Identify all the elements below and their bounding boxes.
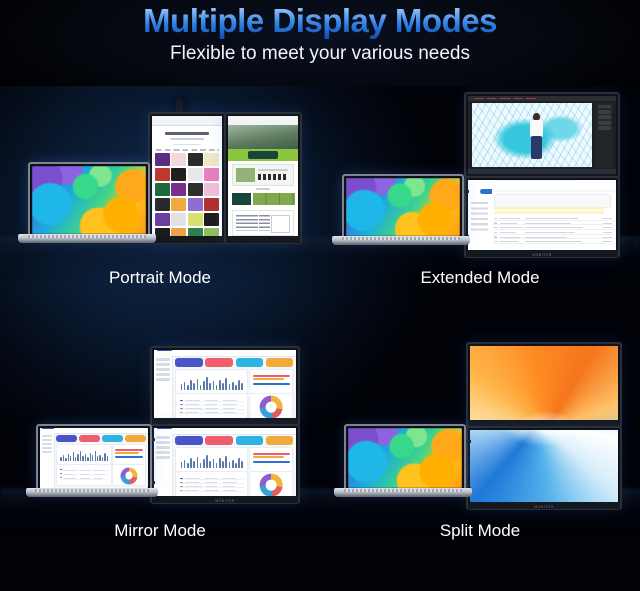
gallery-thumbnail[interactable] <box>155 168 170 181</box>
bar-chart <box>60 451 108 461</box>
gallery-thumbnail[interactable] <box>155 198 170 211</box>
stat-card[interactable] <box>56 435 77 442</box>
sender-line <box>500 227 522 228</box>
analytics-dashboard <box>154 428 296 500</box>
bar <box>229 384 231 390</box>
green-band <box>228 149 298 160</box>
sidebar-item[interactable] <box>156 446 170 449</box>
bar <box>232 382 234 390</box>
highlighted-row[interactable] <box>494 207 603 210</box>
gallery-thumbnail[interactable] <box>204 168 219 181</box>
stat-card-row <box>175 436 293 445</box>
bar <box>190 380 192 389</box>
page-subheading-line <box>170 138 204 140</box>
page-title: Multiple Display Modes <box>0 0 640 39</box>
sidebar-item[interactable] <box>42 439 53 442</box>
promo-card[interactable] <box>494 194 611 208</box>
bar <box>235 463 237 468</box>
panel-title-line <box>181 450 201 451</box>
cell-line <box>223 482 237 483</box>
tool-button[interactable] <box>598 105 611 109</box>
row-marker <box>180 478 183 479</box>
progress-panel <box>249 447 293 472</box>
cell-line <box>223 478 236 479</box>
bar <box>238 380 240 389</box>
stat-card[interactable] <box>79 435 100 442</box>
sidebar-item[interactable] <box>42 451 53 454</box>
stat-card[interactable] <box>175 436 202 445</box>
sidebar-item[interactable] <box>156 378 170 381</box>
table-row[interactable] <box>60 473 109 475</box>
panel-title-line <box>253 372 267 374</box>
stat-card[interactable] <box>205 358 232 367</box>
tool-button[interactable] <box>598 110 611 114</box>
table-row[interactable] <box>180 400 244 403</box>
gallery-thumbnail[interactable] <box>188 153 203 166</box>
metric-bar-orange <box>115 452 138 454</box>
monitor-screen <box>154 428 296 500</box>
monitor-mirror-top <box>150 346 300 426</box>
row-marker <box>180 408 183 409</box>
bar <box>209 461 211 468</box>
bar <box>203 459 205 467</box>
cell-line <box>185 490 198 491</box>
header: Multiple Display Modes Flexible to meet … <box>0 0 640 86</box>
sender-line <box>500 237 519 238</box>
panel-title-line <box>253 450 267 452</box>
sidebar-item[interactable] <box>42 443 53 446</box>
sender-line <box>500 218 519 219</box>
sidebar-item[interactable] <box>156 363 170 366</box>
cell-line <box>205 412 219 413</box>
bar <box>190 458 192 467</box>
mail-row[interactable] <box>493 231 615 235</box>
highlighted-row[interactable] <box>494 211 603 214</box>
mail-toolbar[interactable] <box>493 189 615 192</box>
bar <box>95 451 96 461</box>
gallery-filter-row <box>156 149 219 151</box>
section-divider-line <box>256 188 270 190</box>
bar-chart <box>181 455 244 467</box>
bar <box>102 457 103 461</box>
mail-row[interactable] <box>493 240 615 244</box>
bar <box>87 457 88 461</box>
monitor-screen <box>152 116 222 240</box>
row-checkbox[interactable] <box>494 236 497 237</box>
table-row[interactable] <box>180 404 244 407</box>
mail-sidebar[interactable] <box>468 187 492 254</box>
monitor-screen <box>468 180 616 254</box>
subject-line <box>525 241 581 242</box>
gallery-thumbnail[interactable] <box>204 183 219 196</box>
monitor-screen <box>470 430 618 506</box>
sidebar-item[interactable] <box>156 373 170 376</box>
bar <box>222 383 224 390</box>
date-line <box>603 223 613 224</box>
cell-line <box>185 408 202 409</box>
stat-card[interactable] <box>236 436 263 445</box>
mail-row[interactable] <box>493 217 615 221</box>
laptop-keyboard-deck <box>26 488 158 497</box>
bar <box>65 458 66 461</box>
bar <box>193 383 195 389</box>
gallery-grid <box>155 153 219 232</box>
sidebar-item[interactable] <box>156 436 170 439</box>
label-extended-mode: Extended Mode <box>320 268 640 288</box>
monitor-chin: MONITOR <box>152 496 298 503</box>
monitor-logo: MONITOR <box>532 253 551 257</box>
menu-item[interactable] <box>474 98 484 99</box>
cell-line <box>223 400 236 401</box>
date-line <box>603 232 613 233</box>
sidebar-item[interactable] <box>156 441 170 444</box>
bar <box>229 462 231 468</box>
row-marker <box>60 469 62 470</box>
person-legs <box>531 136 542 159</box>
green-themed-webpage <box>228 116 298 240</box>
metric-bar-red <box>253 453 290 455</box>
bar <box>80 451 81 461</box>
cell-line <box>205 482 217 483</box>
gallery-thumbnail[interactable] <box>171 168 186 181</box>
bar <box>241 461 243 467</box>
tool-button[interactable] <box>598 121 611 125</box>
sender-line <box>500 232 516 233</box>
table-row[interactable] <box>180 486 244 489</box>
gallery-thumbnail[interactable] <box>155 153 170 166</box>
cell-line <box>223 408 235 409</box>
tool-button[interactable] <box>598 126 611 130</box>
bar <box>206 455 208 467</box>
stat-card-row <box>56 435 146 442</box>
analytics-dashboard <box>40 428 148 488</box>
cell-line <box>185 404 199 405</box>
row-marker <box>180 404 183 405</box>
bar <box>206 377 208 389</box>
cell-line <box>185 486 202 487</box>
row-checkbox[interactable] <box>494 241 497 242</box>
person-figure <box>529 113 545 159</box>
gallery-thumbnail[interactable] <box>188 198 203 211</box>
dashboard-header <box>40 428 148 434</box>
progress-bar <box>253 383 290 385</box>
cell-line <box>223 486 235 487</box>
bar <box>184 382 186 389</box>
stat-card-row <box>175 358 293 367</box>
subject-line <box>525 227 583 228</box>
monitor-split-top <box>466 342 622 428</box>
stat-card[interactable] <box>125 435 146 442</box>
cell-line <box>185 478 200 479</box>
row-marker <box>180 412 183 413</box>
bar <box>225 456 227 468</box>
cell-line <box>185 400 200 401</box>
progress-panel <box>112 444 145 465</box>
card-thumbnail <box>236 168 255 182</box>
monitor-mirror-bottom: MONITOR <box>150 424 300 504</box>
menu-item[interactable] <box>487 98 496 99</box>
bar <box>97 456 98 461</box>
table-row[interactable] <box>60 469 109 471</box>
scene: Portrait Mode <box>0 86 640 591</box>
row-checkbox[interactable] <box>494 218 497 219</box>
bar <box>197 457 199 468</box>
bar <box>200 463 202 468</box>
menu-item[interactable] <box>499 98 511 99</box>
sender-line <box>500 223 517 224</box>
bar <box>85 454 86 461</box>
cell-line <box>185 482 199 483</box>
donut-chart-panel <box>112 464 145 486</box>
mail-row[interactable] <box>493 221 615 225</box>
table-panel <box>56 464 112 486</box>
row-checkbox[interactable] <box>494 222 497 223</box>
sidebar-item[interactable] <box>42 447 53 450</box>
bar-chart <box>181 377 244 389</box>
subject-line <box>525 223 571 224</box>
row-marker <box>180 490 183 491</box>
laptop-wallpaper <box>348 428 462 488</box>
stat-card[interactable] <box>266 358 293 367</box>
monitor-logo: MONITOR <box>215 499 234 503</box>
bar <box>216 385 218 390</box>
monitor-portrait-left <box>148 112 226 244</box>
editor-tool-rail[interactable] <box>595 103 613 167</box>
sidebar-item[interactable] <box>156 456 170 459</box>
subject-line <box>525 218 579 219</box>
gallery-thumbnail[interactable] <box>171 153 186 166</box>
page-subtitle: Flexible to meet your various needs <box>0 43 640 65</box>
band-card <box>248 151 279 158</box>
stat-card[interactable] <box>266 436 293 445</box>
editor-canvas[interactable] <box>472 103 592 167</box>
cell-line <box>205 400 218 401</box>
warm-orange-wallpaper <box>470 346 618 424</box>
row-marker <box>60 477 62 478</box>
panel-title-line <box>181 396 199 398</box>
monitor-portrait-right <box>224 112 302 244</box>
cell-line <box>223 404 237 405</box>
table-row[interactable] <box>180 411 244 414</box>
gallery-thumbnail[interactable] <box>204 153 219 166</box>
bar <box>60 457 61 461</box>
content-card <box>232 164 294 186</box>
monitor-extended-bottom: MONITOR <box>464 176 620 258</box>
mail-row[interactable] <box>493 235 615 239</box>
gallery-thumbnail[interactable] <box>204 198 219 211</box>
laptop-keyboard-deck <box>18 234 156 243</box>
monitor-screen <box>468 96 616 174</box>
sidebar-item[interactable] <box>156 368 170 371</box>
label-mirror-mode: Mirror Mode <box>0 521 320 541</box>
card-barcode <box>258 174 285 180</box>
hero-image <box>228 125 298 150</box>
cell-line <box>205 486 218 487</box>
stat-card[interactable] <box>236 358 263 367</box>
keyboard-keys <box>35 489 149 492</box>
laptop-lid <box>342 174 464 240</box>
bar <box>90 453 91 461</box>
table-panel <box>175 471 248 498</box>
panel-split-mode: MONITOR Split Mode <box>320 338 640 591</box>
subject-line <box>525 237 568 238</box>
date-line <box>603 237 613 238</box>
laptop-base-portrait <box>18 234 156 243</box>
row-checkbox[interactable] <box>494 232 497 233</box>
gallery-thumbnail[interactable] <box>204 213 219 226</box>
gallery-thumbnail[interactable] <box>171 198 186 211</box>
cell-line <box>223 412 236 413</box>
bar <box>181 384 183 389</box>
bar <box>225 378 227 390</box>
bar <box>82 456 83 461</box>
monitor-chin <box>226 236 300 243</box>
bar <box>197 379 199 390</box>
page-text-line <box>173 144 201 145</box>
laptop-screen <box>346 178 460 236</box>
monitor-logo: MONITOR <box>534 505 553 509</box>
laptop-keyboard-deck <box>332 236 470 245</box>
donut-chart-panel <box>249 393 293 420</box>
bar <box>73 452 74 461</box>
row-checkbox[interactable] <box>494 227 497 228</box>
keyboard-keys <box>28 235 147 238</box>
list-column-right <box>259 215 270 231</box>
bar <box>181 462 183 467</box>
bar <box>70 456 71 461</box>
keyboard-keys <box>344 489 463 492</box>
laptop-base-extended <box>332 236 470 245</box>
monitor-chin <box>150 236 224 243</box>
bar <box>200 385 202 390</box>
laptop-base-split <box>334 488 472 497</box>
stat-card[interactable] <box>102 435 123 442</box>
bar <box>68 454 69 462</box>
panel-title-line <box>181 474 199 476</box>
laptop-keyboard-deck <box>334 488 472 497</box>
laptop-base-mirror <box>26 488 158 497</box>
dashboard-header <box>154 428 296 435</box>
panel-mirror-mode: MONITOR <box>0 338 320 591</box>
bar <box>238 458 240 467</box>
donut-chart <box>260 474 283 497</box>
row-marker <box>180 482 183 483</box>
bar <box>77 454 78 461</box>
gallery-thumbnail[interactable] <box>171 213 186 226</box>
cool-blue-wallpaper <box>470 430 618 506</box>
menu-item[interactable] <box>514 98 523 99</box>
gallery-thumbnail[interactable] <box>188 168 203 181</box>
bar-chart-panel <box>175 369 248 394</box>
mail-body <box>492 187 616 254</box>
product-feature-image: Multiple Display Modes Flexible to meet … <box>0 0 640 591</box>
row-marker <box>180 486 183 487</box>
sidebar-item[interactable] <box>156 451 170 454</box>
gallery-thumbnail[interactable] <box>171 183 186 196</box>
stat-card[interactable] <box>205 436 232 445</box>
dashboard-sidebar[interactable] <box>154 356 173 422</box>
menu-item[interactable] <box>526 98 536 99</box>
table-row[interactable] <box>180 489 244 492</box>
page-heading-line <box>165 132 210 135</box>
table-row[interactable] <box>180 478 244 481</box>
gallery-thumbnail[interactable] <box>155 213 170 226</box>
bar <box>63 455 64 461</box>
metric-bar-red <box>253 375 290 377</box>
laptop-extended-mode <box>342 174 460 236</box>
bar <box>219 380 221 390</box>
date-line <box>603 218 613 219</box>
cell-line <box>205 478 218 479</box>
bar <box>241 383 243 389</box>
laptop-mirror-mode <box>36 424 148 488</box>
date-line <box>603 227 613 228</box>
bar <box>209 383 211 390</box>
gallery-thumbnail[interactable] <box>188 213 203 226</box>
keyboard-keys <box>342 237 461 240</box>
row-marker <box>180 400 183 401</box>
table-row[interactable] <box>60 477 109 479</box>
sidebar-item[interactable] <box>156 358 170 361</box>
panel-portrait-mode: Portrait Mode <box>0 86 320 338</box>
donut-chart <box>260 396 283 419</box>
monitor-chin: MONITOR <box>466 250 618 257</box>
bar <box>107 456 108 461</box>
bar <box>187 463 189 467</box>
progress-panel <box>249 369 293 394</box>
dark-panel <box>232 193 252 205</box>
dashboard-sidebar[interactable] <box>40 433 55 488</box>
monitor-extended-top <box>464 92 620 178</box>
progress-bar <box>115 456 143 458</box>
person-torso <box>530 120 543 137</box>
metric-bar-orange <box>253 456 284 458</box>
laptop-wallpaper <box>32 166 146 234</box>
folder-list[interactable] <box>471 202 488 233</box>
list-column-left <box>236 215 257 231</box>
laptop-split-mode <box>344 424 462 488</box>
cell-line <box>223 490 236 491</box>
stat-card[interactable] <box>175 358 202 367</box>
bar <box>184 460 186 467</box>
gallery-thumbnail[interactable] <box>188 183 203 196</box>
tool-button[interactable] <box>598 115 611 119</box>
footer-card <box>232 210 294 236</box>
mail-row[interactable] <box>493 226 615 230</box>
table-row[interactable] <box>180 482 244 485</box>
bar <box>222 461 224 468</box>
laptop-lid <box>36 424 152 492</box>
bar <box>187 385 189 389</box>
donut-chart-panel <box>249 471 293 498</box>
browser-topbar <box>152 116 222 126</box>
laptop-lid <box>28 162 150 238</box>
sidebar-item[interactable] <box>42 435 53 438</box>
bar <box>216 463 218 468</box>
table-row[interactable] <box>180 408 244 411</box>
bar <box>219 458 221 468</box>
bar-chart-panel <box>56 444 112 465</box>
gallery-thumbnail[interactable] <box>155 183 170 196</box>
date-line <box>603 241 613 242</box>
sender-line <box>500 241 518 242</box>
photo-editor-app <box>468 96 616 174</box>
row-marker <box>60 473 62 474</box>
monitor-screen <box>228 116 298 240</box>
label-split-mode: Split Mode <box>320 521 640 541</box>
table-panel <box>175 393 248 420</box>
bar <box>213 459 215 468</box>
